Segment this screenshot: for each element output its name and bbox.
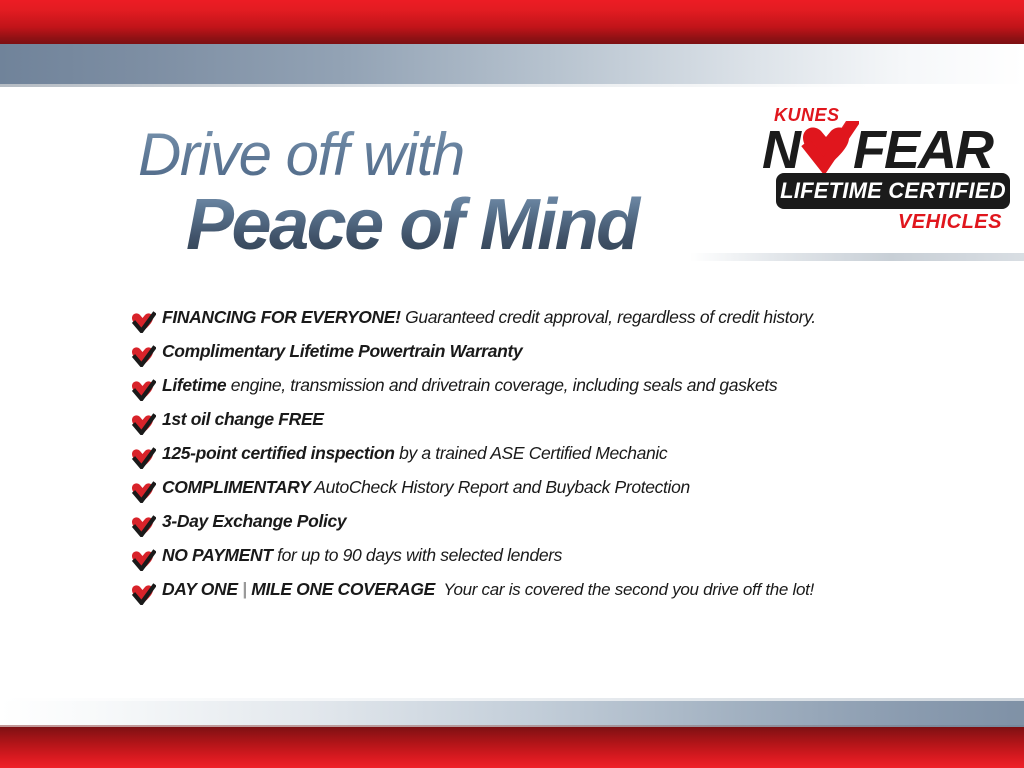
list-item-text: Complimentary Lifetime Powertrain Warran… xyxy=(162,341,522,361)
feature-list: FINANCING FOR EVERYONE! Guaranteed credi… xyxy=(130,308,960,614)
heart-checkmark-icon xyxy=(797,121,859,179)
list-item-bold: FINANCING FOR EVERYONE! xyxy=(162,307,401,327)
list-item-body: 125-point certified inspection by a trai… xyxy=(162,444,960,464)
list-item: COMPLIMENTARY AutoCheck History Report a… xyxy=(130,478,960,503)
list-item-subtext: Your car is covered the second you drive… xyxy=(443,580,814,599)
heart-check-bullet-icon xyxy=(130,345,156,367)
list-item-normal: Guaranteed credit approval, regardless o… xyxy=(401,307,816,327)
list-item: 3-Day Exchange Policy xyxy=(130,512,960,537)
logo-lifetime-certified-bar: LIFETIME CERTIFIED xyxy=(776,173,1010,209)
list-item-body: FINANCING FOR EVERYONE! Guaranteed credi… xyxy=(162,308,960,328)
list-item-separator: | xyxy=(238,579,252,599)
headline-line-1: Drive off with xyxy=(138,126,738,185)
kunes-no-fear-logo: KUNES N FEAR LIFETIME CERTIFIED VEHICLES xyxy=(762,105,1010,240)
list-item-bold: DAY ONE xyxy=(162,579,238,599)
list-item-body: COMPLIMENTARY AutoCheck History Report a… xyxy=(162,478,960,498)
list-item-body: 1st oil change FREE xyxy=(162,410,960,430)
list-item-bold: 125-point certified inspection xyxy=(162,443,395,463)
bottom-slate-band xyxy=(0,701,1024,727)
list-item-normal: for up to 90 days with selected lenders xyxy=(273,545,563,565)
list-item-text: FINANCING FOR EVERYONE! Guaranteed credi… xyxy=(162,307,816,327)
heart-check-bullet-icon xyxy=(130,549,156,571)
list-item-bold: Complimentary Lifetime Powertrain Warran… xyxy=(162,341,522,361)
logo-vehicles-text: VEHICLES xyxy=(898,211,1002,234)
list-item-text: 125-point certified inspection by a trai… xyxy=(162,443,667,463)
list-item-bold: 1st oil change FREE xyxy=(162,409,324,429)
headline-line-2: Peace of Mind xyxy=(186,189,738,261)
heart-check-bullet-icon xyxy=(130,481,156,503)
bottom-red-band xyxy=(0,727,1024,768)
list-item-body: NO PAYMENT for up to 90 days with select… xyxy=(162,546,960,566)
logo-divider-line xyxy=(690,253,1024,261)
heart-check-bullet-icon xyxy=(130,413,156,435)
list-item-text: NO PAYMENT for up to 90 days with select… xyxy=(162,545,562,565)
list-item-normal: AutoCheck History Report and Buyback Pro… xyxy=(310,477,689,497)
list-item-text: Lifetime engine, transmission and drivet… xyxy=(162,375,777,395)
list-item-bold-2: MILE ONE COVERAGE xyxy=(251,579,435,599)
heart-check-bullet-icon xyxy=(130,311,156,333)
heart-check-bullet-icon xyxy=(130,379,156,401)
list-item: Lifetime engine, transmission and drivet… xyxy=(130,376,960,401)
list-item: Complimentary Lifetime Powertrain Warran… xyxy=(130,342,960,367)
list-item-text: COMPLIMENTARY AutoCheck History Report a… xyxy=(162,477,690,497)
list-item-body: DAY ONE | MILE ONE COVERAGE Your car is … xyxy=(162,580,960,600)
promo-graphic: Drive off with Peace of Mind KUNES N FEA… xyxy=(0,0,1024,768)
list-item-bold: Lifetime xyxy=(162,375,226,395)
list-item: NO PAYMENT for up to 90 days with select… xyxy=(130,546,960,571)
list-item-text: 3-Day Exchange Policy xyxy=(162,511,346,531)
list-item-bold: NO PAYMENT xyxy=(162,545,273,565)
heart-check-bullet-icon xyxy=(130,447,156,469)
list-item: FINANCING FOR EVERYONE! Guaranteed credi… xyxy=(130,308,960,333)
heart-check-bullet-icon xyxy=(130,583,156,605)
list-item-bold: 3-Day Exchange Policy xyxy=(162,511,346,531)
top-slate-band xyxy=(0,44,1024,84)
list-item: 1st oil change FREE xyxy=(130,410,960,435)
list-item-body: 3-Day Exchange Policy xyxy=(162,512,960,532)
list-item-body: Complimentary Lifetime Powertrain Warran… xyxy=(162,342,960,362)
logo-letters-fear: FEAR xyxy=(853,123,992,177)
list-item-normal: engine, transmission and drivetrain cove… xyxy=(226,375,777,395)
list-item: 125-point certified inspection by a trai… xyxy=(130,444,960,469)
top-red-band xyxy=(0,0,1024,44)
list-item-bold: COMPLIMENTARY xyxy=(162,477,310,497)
headline-block: Drive off with Peace of Mind xyxy=(138,126,738,261)
list-item-text: 1st oil change FREE xyxy=(162,409,324,429)
logo-wordmark: N FEAR xyxy=(762,121,992,179)
logo-letter-n: N xyxy=(762,123,799,177)
logo-bar-text: LIFETIME CERTIFIED xyxy=(780,178,1006,204)
list-item-body: Lifetime engine, transmission and drivet… xyxy=(162,376,960,396)
list-item: DAY ONE | MILE ONE COVERAGE Your car is … xyxy=(130,580,960,605)
list-item-normal: by a trained ASE Certified Mechanic xyxy=(395,443,668,463)
heart-check-bullet-icon xyxy=(130,515,156,537)
list-item-text: DAY ONE | MILE ONE COVERAGE xyxy=(162,579,435,599)
